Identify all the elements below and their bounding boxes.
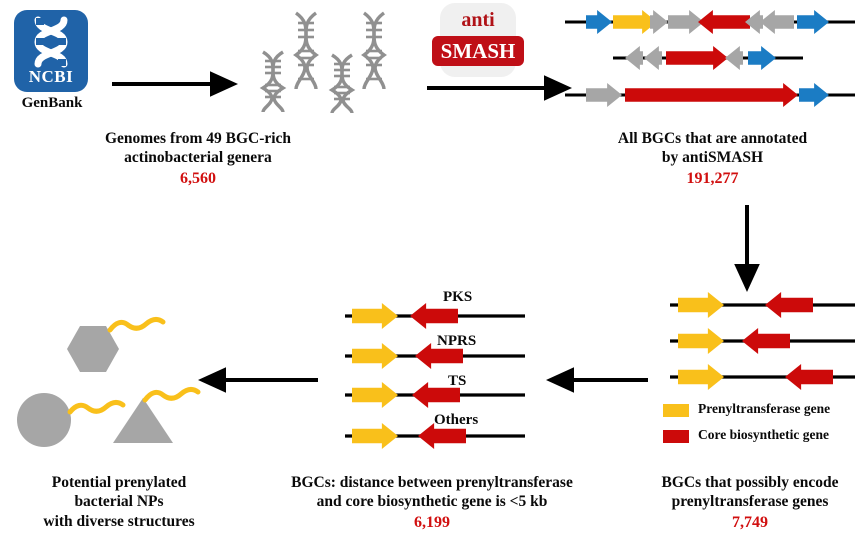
count-genomes: 6,560	[58, 169, 338, 189]
gene-arrow-yellow	[678, 364, 724, 390]
product-shapes-group	[17, 319, 198, 447]
gene-arrow-gray	[644, 46, 662, 70]
bgc-class-label-pks: PKS	[443, 289, 472, 306]
prenyltransferase-gene-clusters	[670, 292, 855, 390]
caption-distance-line1: BGCs: distance between prenyltransferase	[291, 474, 573, 491]
legend-label-core-biosynthetic: Core biosynthetic gene	[698, 427, 829, 443]
gene-arrow-gray	[725, 46, 743, 70]
caption-distance-line2: and core biosynthetic gene is <5 kb	[317, 493, 548, 510]
gene-arrow-gray	[586, 83, 622, 107]
gene-arrow-blue	[748, 46, 776, 70]
gene-arrow-yellow	[678, 328, 724, 354]
caption-all-bgcs: All BGCs that are annotated by antiSMASH…	[570, 129, 855, 189]
caption-products: Potential prenylated bacterial NPs with …	[8, 473, 230, 531]
dna-helix-icon	[332, 55, 352, 113]
gene-arrow-gray	[625, 46, 643, 70]
gene-arrow-red	[625, 83, 798, 107]
bgc-class-label-ts: TS	[448, 373, 466, 390]
dna-helix-icon	[296, 13, 316, 89]
dna-helix-icon	[364, 13, 384, 89]
caption-products-line1: Potential prenylated	[52, 474, 186, 491]
gene-arrow-blue	[799, 83, 829, 107]
legend-swatch-prenyltransferase	[663, 404, 689, 417]
figure-canvas: NCBI GenBank anti SMASH	[0, 0, 868, 540]
gene-arrow-yellow	[352, 343, 398, 369]
caption-genomes-line1: Genomes from 49 BGC-rich	[105, 130, 291, 147]
gene-arrow-red	[698, 10, 750, 34]
caption-genomes-line2: actinobacterial genera	[124, 149, 272, 166]
caption-possible-pt: BGCs that possibly encode prenyltransfer…	[635, 473, 865, 533]
antismash-gene-clusters	[565, 10, 855, 107]
gene-arrow-blue	[586, 10, 612, 34]
bgc-class-label-nprs: NPRS	[437, 333, 476, 350]
gene-arrow-yellow	[352, 423, 398, 449]
gene-arrow-yellow	[352, 303, 398, 329]
legend-swatch-core-biosynthetic	[663, 430, 689, 443]
prenyl-chain-icon	[145, 389, 198, 400]
gene-arrow-yellow	[678, 292, 724, 318]
diagram-graphics-layer	[0, 0, 868, 540]
caption-distance-filtered: BGCs: distance between prenyltransferase…	[232, 473, 632, 533]
gene-arrow-gray	[650, 10, 668, 34]
gene-arrow-red	[742, 328, 790, 354]
legend-label-prenyltransferase: Prenyltransferase gene	[698, 401, 830, 417]
caption-all-bgcs-line1: All BGCs that are annotated	[618, 130, 807, 147]
gene-arrow-red	[666, 46, 728, 70]
prenyl-chain-icon	[70, 402, 123, 412]
caption-possible-pt-line1: BGCs that possibly encode	[662, 474, 839, 491]
caption-products-line2: bacterial NPs	[74, 493, 163, 510]
gene-arrow-gray	[760, 10, 794, 34]
prenyl-chain-icon	[110, 319, 163, 330]
count-all-bgcs: 191,277	[570, 169, 855, 189]
bgc-class-label-others: Others	[434, 412, 478, 429]
caption-genomes: Genomes from 49 BGC-rich actinobacterial…	[58, 129, 338, 189]
count-possible-pt: 7,749	[635, 513, 865, 533]
dna-helix-group	[263, 13, 384, 113]
caption-products-line3: with diverse structures	[43, 513, 194, 530]
gene-arrow-red	[785, 364, 833, 390]
gene-arrow-yellow	[352, 382, 398, 408]
caption-possible-pt-line2: prenyltransferase genes	[672, 493, 829, 510]
dna-helix-icon	[263, 52, 283, 112]
circle-shape	[17, 393, 71, 447]
gene-arrow-red	[765, 292, 813, 318]
count-distance-filtered: 6,199	[232, 513, 632, 533]
gene-arrow-blue	[797, 10, 829, 34]
gene-arrow-red	[410, 303, 458, 329]
hexagon-shape	[67, 326, 119, 372]
caption-all-bgcs-line2: by antiSMASH	[662, 149, 763, 166]
